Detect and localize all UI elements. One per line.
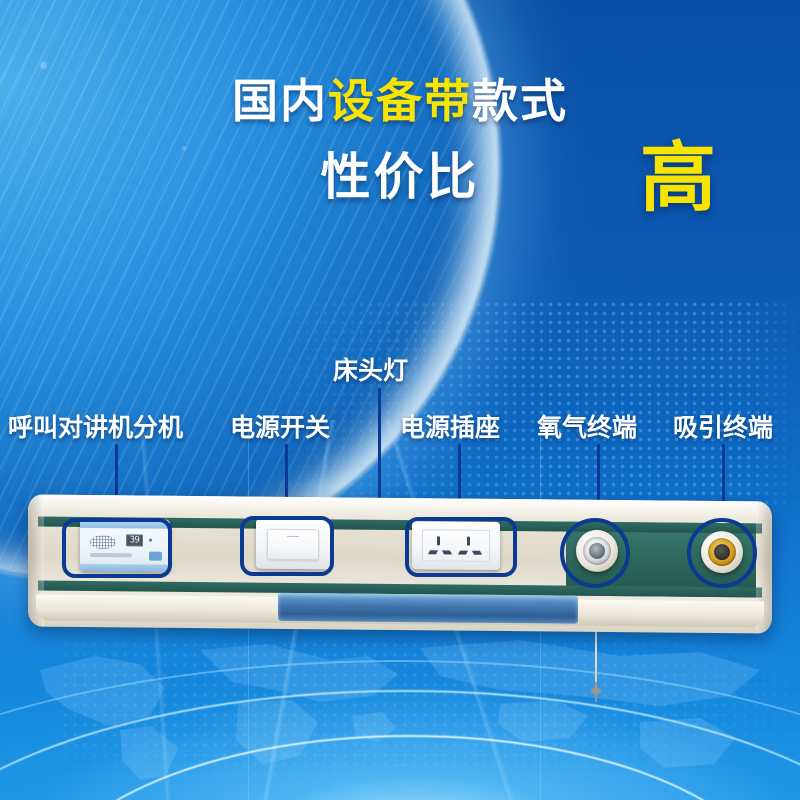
headline-text-white-a: 国内 (232, 74, 328, 128)
headline-text-yellow: 设备带 (328, 74, 472, 128)
callout-label-socket: 电源插座 (400, 415, 500, 440)
headline-line-1: 国内设备带款式 (0, 78, 800, 124)
callout-label-switch: 电源开关 (230, 415, 330, 440)
headline-text-white-b: 款式 (472, 74, 568, 128)
panel-gloss (28, 494, 772, 519)
highlight-intercom (62, 518, 172, 578)
callout-label-intercom: 呼叫对讲机分机 (8, 415, 183, 440)
highlight-switch (240, 516, 334, 576)
promo-banner: 国内设备带款式 性价比 高 呼叫对讲机分机 电源开关 床头灯 电源插座 氧气终端… (0, 0, 800, 800)
headline-subtitle: 性价比 (321, 148, 480, 206)
highlight-oxygen (560, 518, 630, 588)
highlight-socket (405, 517, 517, 577)
callout-label-bed-lamp: 床头灯 (333, 358, 408, 383)
headline-accent-word: 高 (640, 140, 716, 216)
highlight-suction (687, 518, 757, 588)
callout-label-oxygen: 氧气终端 (537, 415, 637, 440)
callout-label-suction: 吸引终端 (673, 415, 773, 440)
bed-lamp-diffuser (278, 593, 578, 624)
